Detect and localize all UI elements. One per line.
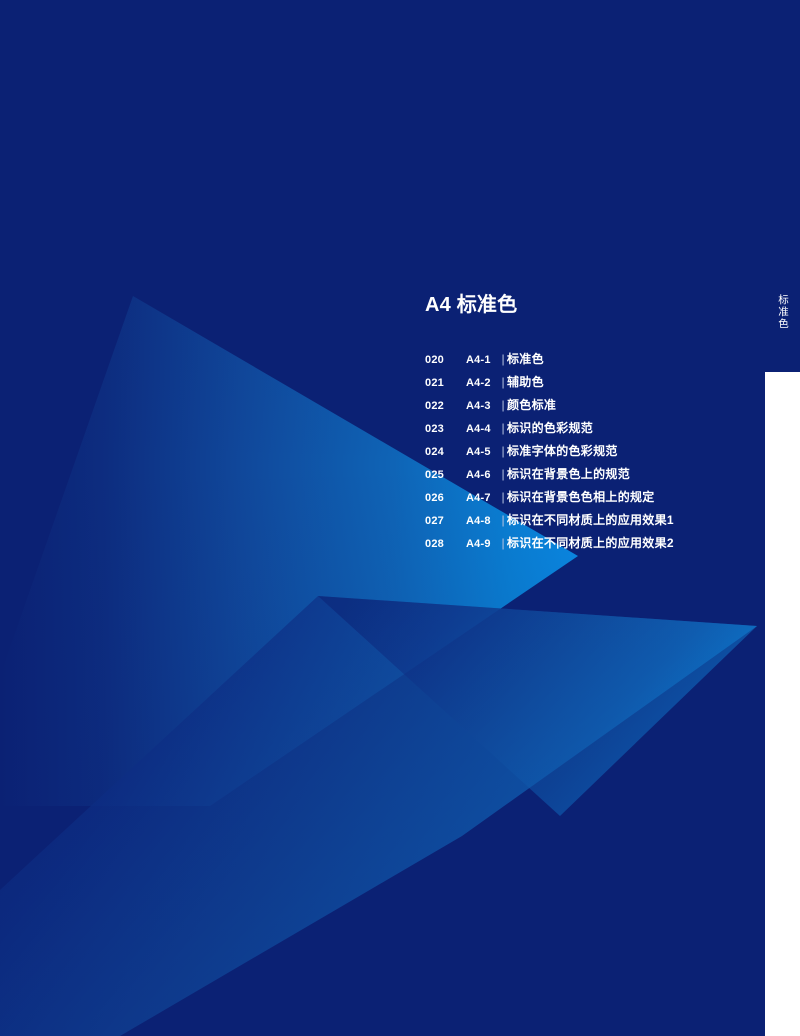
toc-label: 标识在不同材质上的应用效果2 (507, 534, 674, 551)
side-tab-label-wrap: 标准色 (765, 294, 800, 330)
toc-number: 021 (425, 377, 466, 389)
list-item[interactable]: 027 A4-8 | 标识在不同材质上的应用效果1 (425, 511, 674, 534)
list-item[interactable]: 026 A4-7 | 标识在背景色色相上的规定 (425, 488, 674, 511)
toc-number: 027 (425, 515, 466, 527)
list-item[interactable]: 022 A4-3 | 颜色标准 (425, 396, 674, 419)
toc-number: 023 (425, 423, 466, 435)
list-item[interactable]: 025 A4-6 | 标识在背景色上的规范 (425, 465, 674, 488)
page-root: 标准色 A4 标准色 020 A4-1 | 标准色 021 A4-2 | 辅助色… (0, 0, 800, 1036)
toc-number: 022 (425, 400, 466, 412)
toc-separator: | (499, 353, 507, 365)
toc-label: 颜色标准 (507, 396, 556, 413)
background-veil (0, 0, 800, 1036)
toc-number: 028 (425, 538, 466, 550)
list-item[interactable]: 020 A4-1 | 标准色 (425, 350, 674, 373)
toc-separator: | (499, 376, 507, 388)
toc-label: 标准色 (507, 350, 544, 367)
toc-code: A4-4 (466, 423, 499, 435)
toc-separator: | (499, 537, 507, 549)
toc-separator: | (499, 422, 507, 434)
toc-code: A4-9 (466, 538, 499, 550)
toc-separator: | (499, 514, 507, 526)
toc-label: 标识在不同材质上的应用效果1 (507, 511, 674, 528)
white-notch (765, 372, 800, 1036)
page-title: A4 标准色 (425, 292, 674, 318)
toc-code: A4-3 (466, 400, 499, 412)
toc-number: 024 (425, 446, 466, 458)
toc-code: A4-5 (466, 446, 499, 458)
toc-code: A4-2 (466, 377, 499, 389)
toc-label: 标识的色彩规范 (507, 419, 593, 436)
toc-code: A4-8 (466, 515, 499, 527)
side-tab-label: 标准色 (776, 294, 789, 330)
toc-label: 辅助色 (507, 373, 544, 390)
toc-code: A4-1 (466, 354, 499, 366)
table-of-contents: 020 A4-1 | 标准色 021 A4-2 | 辅助色 022 A4-3 |… (425, 350, 674, 557)
toc-number: 026 (425, 492, 466, 504)
list-item[interactable]: 021 A4-2 | 辅助色 (425, 373, 674, 396)
background-artwork (0, 0, 800, 1036)
toc-label: 标准字体的色彩规范 (507, 442, 618, 459)
toc-code: A4-6 (466, 469, 499, 481)
toc-separator: | (499, 468, 507, 480)
toc-number: 020 (425, 354, 466, 366)
toc-code: A4-7 (466, 492, 499, 504)
side-tab: 标准色 (765, 0, 800, 372)
toc-separator: | (499, 445, 507, 457)
toc-separator: | (499, 491, 507, 503)
list-item[interactable]: 024 A4-5 | 标准字体的色彩规范 (425, 442, 674, 465)
list-item[interactable]: 028 A4-9 | 标识在不同材质上的应用效果2 (425, 534, 674, 557)
toc-label: 标识在背景色上的规范 (507, 465, 630, 482)
toc-number: 025 (425, 469, 466, 481)
section-content: A4 标准色 020 A4-1 | 标准色 021 A4-2 | 辅助色 022… (425, 292, 674, 557)
toc-separator: | (499, 399, 507, 411)
list-item[interactable]: 023 A4-4 | 标识的色彩规范 (425, 419, 674, 442)
toc-label: 标识在背景色色相上的规定 (507, 488, 655, 505)
